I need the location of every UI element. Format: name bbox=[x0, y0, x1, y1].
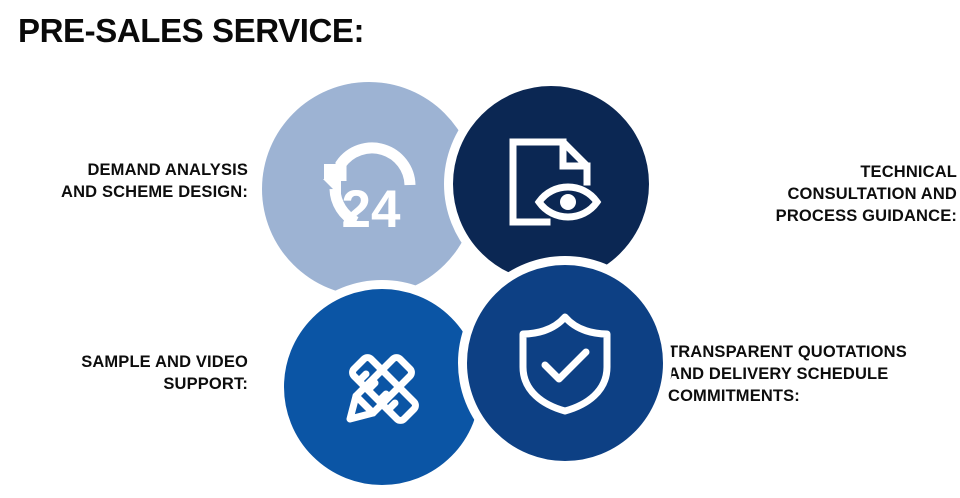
label-line: DEMAND ANALYSIS bbox=[0, 160, 248, 182]
pencil-ruler-icon bbox=[328, 333, 436, 441]
label-line: CONSULTATION AND bbox=[727, 184, 957, 206]
label-line: SAMPLE AND VIDEO bbox=[0, 352, 248, 374]
label-transparent-quotations: TRANSPARENT QUOTATIONS AND DELIVERY SCHE… bbox=[668, 342, 960, 408]
page-title: PRE-SALES SERVICE: bbox=[18, 12, 364, 50]
label-line: AND DELIVERY SCHEDULE bbox=[668, 364, 960, 386]
circle-transparent-quotations[interactable] bbox=[458, 256, 672, 470]
label-line: TECHNICAL bbox=[727, 162, 957, 184]
service-circle-cluster: 24 bbox=[262, 82, 672, 498]
label-demand-analysis: DEMAND ANALYSIS AND SCHEME DESIGN: bbox=[0, 160, 248, 204]
24-hour-rotate-icon: 24 bbox=[309, 133, 429, 245]
shield-check-icon bbox=[513, 307, 617, 419]
label-sample-video: SAMPLE AND VIDEO SUPPORT: bbox=[0, 352, 248, 396]
icon-hours-label: 24 bbox=[342, 180, 401, 239]
label-line: AND SCHEME DESIGN: bbox=[0, 182, 248, 204]
label-line: SUPPORT: bbox=[0, 374, 248, 396]
label-line: COMMITMENTS: bbox=[668, 386, 960, 408]
label-line: PROCESS GUIDANCE: bbox=[727, 206, 957, 228]
circle-sample-video[interactable] bbox=[275, 280, 489, 494]
label-line: TRANSPARENT QUOTATIONS bbox=[668, 342, 960, 364]
label-technical-consultation: TECHNICAL CONSULTATION AND PROCESS GUIDA… bbox=[727, 162, 957, 228]
document-eye-icon bbox=[495, 130, 607, 238]
